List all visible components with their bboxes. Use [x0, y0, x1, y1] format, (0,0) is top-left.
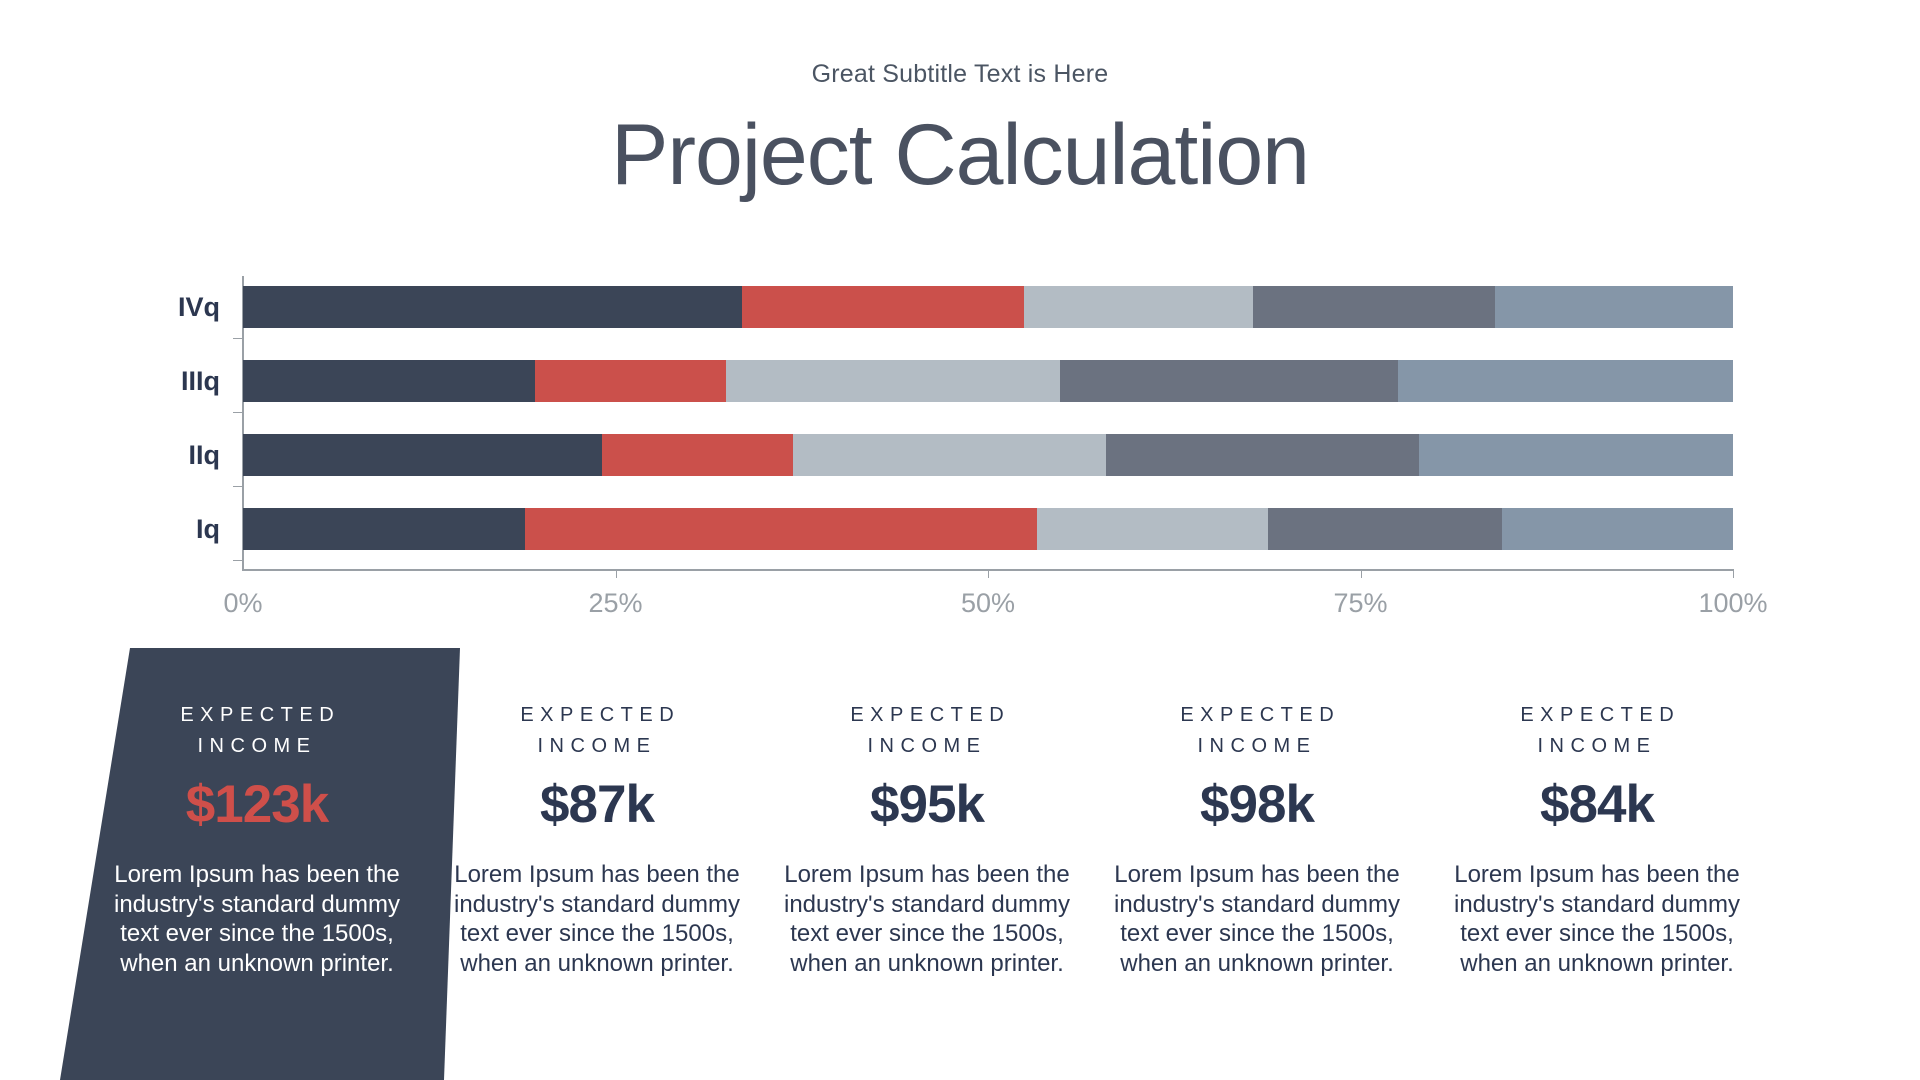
x-axis-tick: [1361, 569, 1362, 578]
y-axis-label: IIq: [20, 434, 220, 476]
bar-segment: [243, 360, 535, 402]
x-axis-tick: [1733, 569, 1734, 578]
y-axis-tick: [233, 560, 242, 561]
bar-segment: [1398, 360, 1733, 402]
bar-segment: [1419, 434, 1733, 476]
income-card-value: $87k: [452, 774, 742, 835]
income-card-kicker: EXPECTED INCOME: [1112, 700, 1402, 762]
income-card[interactable]: EXPECTED INCOME$95kLorem Ipsum has been …: [782, 700, 1072, 978]
bar-segment: [726, 360, 1060, 402]
bar-segment: [525, 508, 1038, 550]
income-card[interactable]: EXPECTED INCOME$98kLorem Ipsum has been …: [1112, 700, 1402, 978]
slide-subtitle: Great Subtitle Text is Here: [0, 60, 1920, 89]
bar-segment: [1268, 508, 1502, 550]
income-card-body: Lorem Ipsum has been the industry's stan…: [1112, 860, 1402, 978]
income-card-body: Lorem Ipsum has been the industry's stan…: [452, 860, 742, 978]
x-axis-label: 50%: [908, 588, 1068, 619]
bar-segment: [742, 286, 1024, 328]
bar-row: [243, 286, 1733, 328]
x-axis-label: 0%: [163, 588, 323, 619]
y-axis-label: IIIq: [20, 360, 220, 402]
income-card-kicker: EXPECTED INCOME: [1452, 700, 1742, 762]
bar-segment: [793, 434, 1106, 476]
bar-segment: [1495, 286, 1733, 328]
income-card-body: Lorem Ipsum has been the industry's stan…: [112, 860, 402, 978]
bar-segment: [1253, 286, 1494, 328]
x-axis-tick: [988, 569, 989, 578]
bar-segment: [1037, 508, 1268, 550]
bar-segment: [1024, 286, 1253, 328]
income-cards-row: EXPECTED INCOME$123kLorem Ipsum has been…: [0, 648, 1920, 1080]
bar-segment: [535, 360, 726, 402]
bar-segment: [602, 434, 793, 476]
bar-segment: [1502, 508, 1733, 550]
y-axis-label: IVq: [20, 286, 220, 328]
income-card-value: $95k: [782, 774, 1072, 835]
x-axis-label: 25%: [536, 588, 696, 619]
income-card[interactable]: EXPECTED INCOME$87kLorem Ipsum has been …: [452, 700, 742, 978]
y-axis-label: Iq: [20, 508, 220, 550]
bar-segment: [243, 434, 602, 476]
slide-title: Project Calculation: [0, 107, 1920, 203]
x-axis-label: 100%: [1653, 588, 1813, 619]
bar-segment: [243, 508, 525, 550]
y-axis-tick: [233, 486, 242, 487]
slide-root: Great Subtitle Text is Here Project Calc…: [0, 0, 1920, 1080]
income-card-value: $123k: [112, 774, 402, 835]
income-card-body: Lorem Ipsum has been the industry's stan…: [782, 860, 1072, 978]
y-axis-tick: [233, 338, 242, 339]
bar-row: [243, 434, 1733, 476]
x-axis-tick: [616, 569, 617, 578]
chart-plot-area: [243, 276, 1733, 570]
income-card-value: $84k: [1452, 774, 1742, 835]
income-card-body: Lorem Ipsum has been the industry's stan…: [1452, 860, 1742, 978]
stacked-bar-chart: IVqIIIqIIqIq 0%25%50%75%100%: [0, 276, 1920, 636]
bar-row: [243, 360, 1733, 402]
income-card-kicker: EXPECTED INCOME: [452, 700, 742, 762]
income-card[interactable]: EXPECTED INCOME$123kLorem Ipsum has been…: [112, 700, 402, 978]
income-card-value: $98k: [1112, 774, 1402, 835]
income-card-kicker: EXPECTED INCOME: [782, 700, 1072, 762]
income-card-kicker: EXPECTED INCOME: [112, 700, 402, 762]
income-card[interactable]: EXPECTED INCOME$84kLorem Ipsum has been …: [1452, 700, 1742, 978]
bar-segment: [1106, 434, 1419, 476]
x-axis-label: 75%: [1281, 588, 1441, 619]
bar-row: [243, 508, 1733, 550]
bar-segment: [1060, 360, 1398, 402]
bar-segment: [243, 286, 742, 328]
y-axis-tick: [233, 412, 242, 413]
